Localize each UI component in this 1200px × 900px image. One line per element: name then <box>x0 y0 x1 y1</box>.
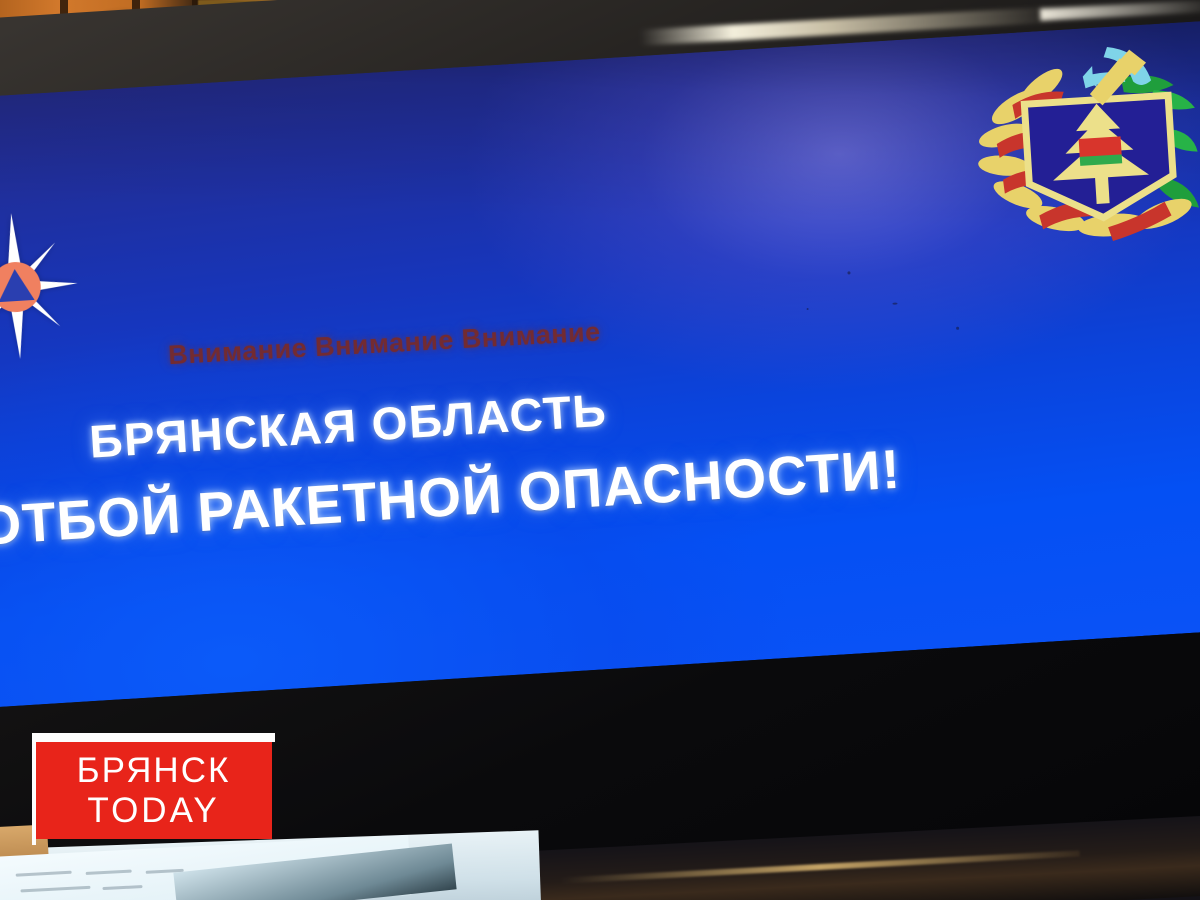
watermark-frame-top <box>32 733 275 742</box>
television-screen: Внимание Внимание Внимание БРЯНСКАЯ ОБЛА… <box>0 18 1200 709</box>
watermark-frame-left <box>32 733 36 845</box>
photograph: Внимание Внимание Внимание БРЯНСКАЯ ОБЛА… <box>0 0 1200 900</box>
watermark-line-1: БРЯНСК <box>77 751 231 790</box>
emercom-star-icon <box>0 207 84 365</box>
coat-of-arms-icon <box>969 36 1200 260</box>
watermark-line-2: TODAY <box>87 791 219 830</box>
bryansk-today-watermark: БРЯНСК TODAY <box>35 742 272 839</box>
